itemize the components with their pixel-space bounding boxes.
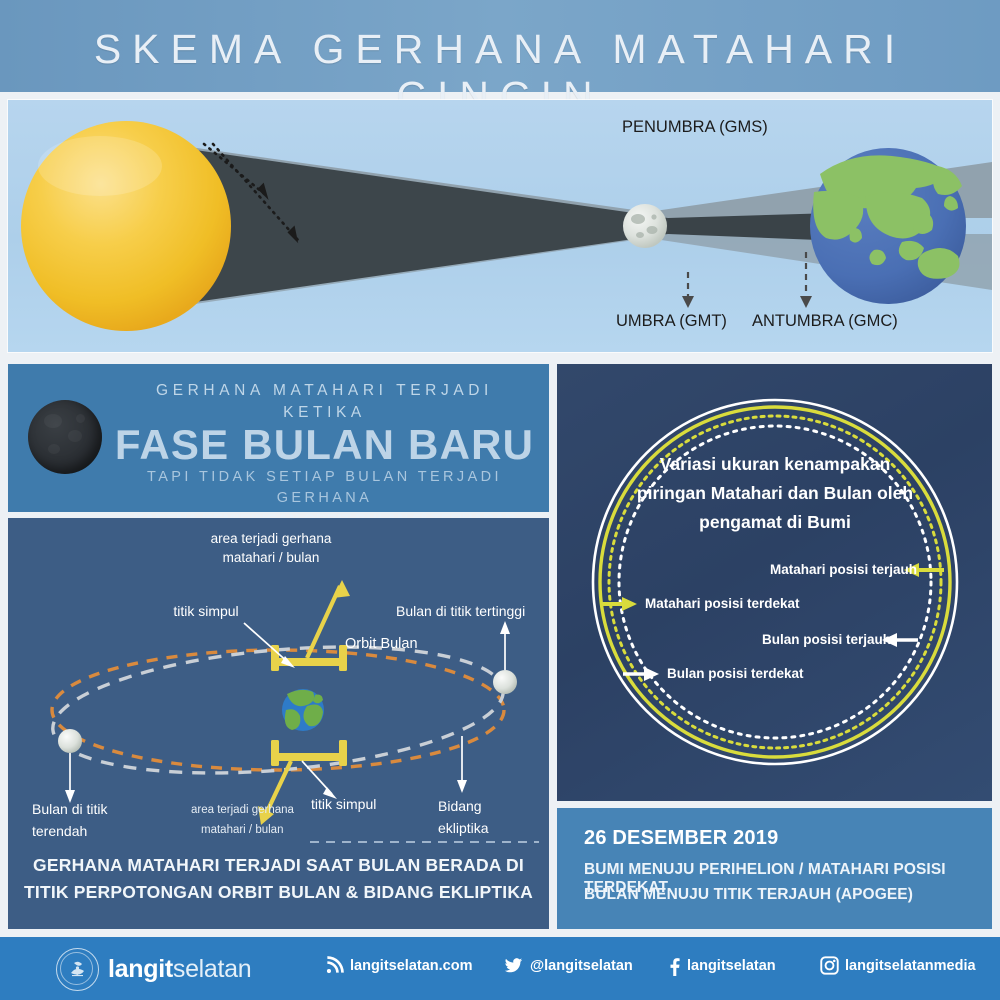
penumbra-label: PENUMBRA (GMS) (622, 118, 768, 136)
seal-emblem (57, 949, 98, 990)
orbit-bulan-label: Orbit Bulan (345, 636, 418, 652)
new-moon-line-1: GERHANA MATAHARI TERJADI KETIKA (112, 380, 537, 424)
langitselatan-seal-logo (56, 948, 99, 991)
new-moon-headline: FASE BULAN BARU (112, 422, 537, 467)
eclipse-geometry-panel: PENUMBRA (GMS) UMBRA (GMT) ANTUMBRA (GMC… (8, 100, 992, 352)
footer-link-twitter[interactable]: @langitselatan (530, 958, 633, 974)
header-bar: SKEMA GERHANA MATAHARI CINCIN (0, 0, 1000, 92)
antumbra-label: ANTUMBRA (GMC) (752, 312, 898, 330)
label-moon-nearest: Bulan posisi terdekat (667, 666, 804, 681)
ecliptic-label-2: ekliptika (438, 820, 489, 836)
earth-globe (810, 148, 966, 304)
antumbra-arrow (800, 296, 812, 308)
new-moon-line-3: TAPI TIDAK SETIAP BULAN TERJADI GERHANA (112, 467, 537, 509)
footer-link-website[interactable]: langitselatan.com (350, 958, 472, 974)
eclipse-area-top-label-2: matahari / bulan (223, 550, 320, 565)
brand-wordmark: langitselatan (108, 955, 251, 984)
new-moon-icon (28, 400, 102, 474)
eclipse-area-bottom-label-1: area terjadi gerhana (191, 804, 295, 816)
earth-icon (282, 689, 324, 731)
moon-lowest-label-2: terendah (32, 823, 87, 839)
node-top-label: titik simpul (173, 603, 238, 619)
eclipse-area-bottom-label-2: matahari / bulan (201, 824, 283, 836)
new-moon-phase-panel: GERHANA MATAHARI TERJADI KETIKA FASE BUL… (8, 364, 549, 512)
date-info-panel: 26 DESEMBER 2019 BUMI MENUJU PERIHELION … (557, 808, 992, 929)
rss-icon[interactable] (325, 956, 344, 975)
footer-bar: langitselatan langitselatan.com @langits… (0, 937, 1000, 1000)
orbit-caption-line-2: TITIK PERPOTONGAN ORBIT BULAN & BIDANG E… (8, 879, 549, 906)
label-sun-farthest: Matahari posisi terjauh (770, 562, 917, 577)
rings-title-line-3: pengamat di Bumi (605, 508, 945, 537)
node-bottom-label: titik simpul (311, 796, 376, 812)
moon-highest-label: Bulan di titik tertinggi (396, 603, 525, 619)
umbra-arrow (682, 296, 694, 308)
moon-lowest-point (58, 729, 82, 753)
moon-sphere (623, 204, 667, 248)
brand-light: selatan (173, 955, 252, 983)
instagram-icon[interactable] (820, 956, 839, 975)
moon-lowest-leader (65, 753, 75, 803)
rings-title-line-1: Variasi ukuran kenampakan (605, 450, 945, 479)
moon-highest-point (493, 670, 517, 694)
label-sun-nearest: Matahari posisi terdekat (645, 596, 800, 611)
eclipse-area-top-label-1: area terjadi gerhana (211, 531, 332, 546)
apparent-size-rings-diagram (557, 364, 992, 801)
arrow-sun-nearest (601, 597, 637, 611)
eclipse-geometry-diagram: PENUMBRA (GMS) UMBRA (GMT) ANTUMBRA (GMC… (8, 100, 992, 352)
sun-highlight (38, 136, 162, 196)
orbit-caption-line-1: GERHANA MATAHARI TERJADI SAAT BULAN BERA… (8, 852, 549, 879)
lunar-orbit-panel: area terjadi gerhana matahari / bulan ti… (8, 518, 549, 929)
moon-highest-leader (500, 621, 510, 670)
label-moon-farthest: Bulan posisi terjauh (762, 632, 891, 647)
brand-bold: langit (108, 955, 173, 983)
moon-lowest-label-1: Bulan di titik (32, 801, 108, 817)
node-top-leader (244, 623, 295, 668)
rings-title: Variasi ukuran kenampakan piringan Matah… (605, 450, 945, 537)
umbra-label: UMBRA (GMT) (616, 312, 727, 330)
rings-title-line-2: piringan Matahari dan Bulan oleh (605, 479, 945, 508)
orbit-caption: GERHANA MATAHARI TERJADI SAAT BULAN BERA… (8, 852, 549, 906)
footer-link-facebook[interactable]: langitselatan (687, 958, 776, 974)
footer-link-instagram[interactable]: langitselatanmedia (845, 958, 976, 974)
date-note-line-2: BULAN MENUJU TITIK TERJAUH (APOGEE) (584, 886, 913, 904)
ecliptic-label-1: Bidang (438, 798, 482, 814)
infographic-page: SKEMA GERHANA MATAHARI CINCIN (0, 0, 1000, 1000)
twitter-icon[interactable] (503, 956, 524, 975)
facebook-icon[interactable] (668, 956, 681, 976)
apparent-size-panel: Variasi ukuran kenampakan piringan Matah… (557, 364, 992, 801)
eclipse-date: 26 DESEMBER 2019 (584, 827, 778, 850)
